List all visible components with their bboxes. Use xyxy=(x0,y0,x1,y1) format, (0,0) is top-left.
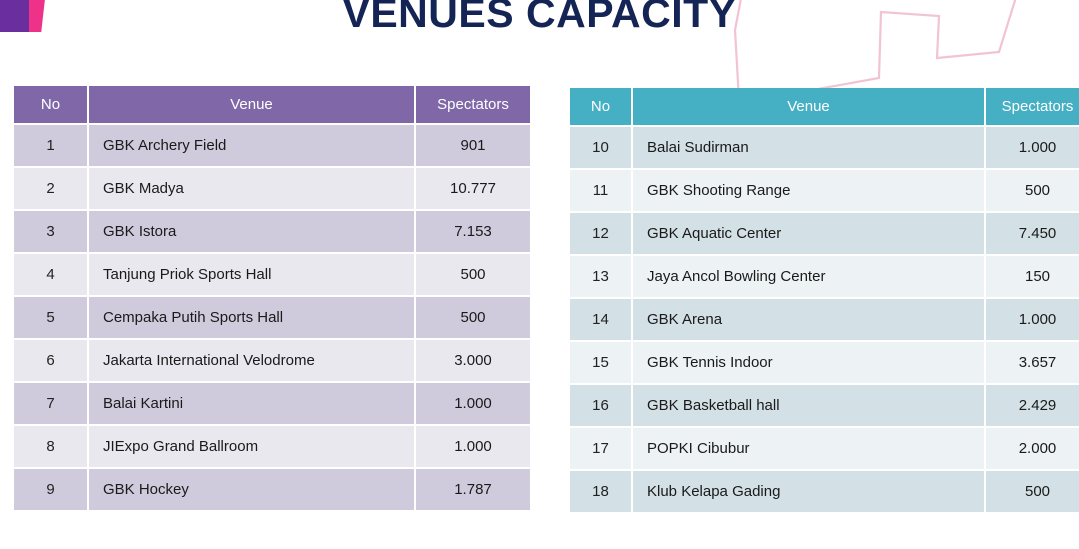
cell-venue: GBK Arena xyxy=(632,298,985,341)
table-row: 3 GBK Istora 7.153 xyxy=(14,210,531,253)
cell-venue: Balai Kartini xyxy=(88,382,415,425)
cell-spectators: 901 xyxy=(415,124,531,167)
cell-no: 10 xyxy=(570,126,632,169)
cell-venue: Jakarta International Velodrome xyxy=(88,339,415,382)
cell-no: 16 xyxy=(570,384,632,427)
cell-venue: Klub Kelapa Gading xyxy=(632,470,985,513)
table-header-row: No Venue Spectators xyxy=(570,88,1079,126)
cell-spectators: 1.000 xyxy=(415,382,531,425)
cell-no: 8 xyxy=(14,425,88,468)
cell-spectators: 3.657 xyxy=(985,341,1079,384)
table-row: 5 Cempaka Putih Sports Hall 500 xyxy=(14,296,531,339)
cell-no: 15 xyxy=(570,341,632,384)
cell-no: 11 xyxy=(570,169,632,212)
cell-no: 17 xyxy=(570,427,632,470)
table-row: 14 GBK Arena 1.000 xyxy=(570,298,1079,341)
cell-spectators: 1.787 xyxy=(415,468,531,511)
venues-table-right: No Venue Spectators 10 Balai Sudirman 1.… xyxy=(570,88,1079,514)
table-row: 8 JIExpo Grand Ballroom 1.000 xyxy=(14,425,531,468)
cell-spectators: 7.153 xyxy=(415,210,531,253)
cell-spectators: 150 xyxy=(985,255,1079,298)
cell-spectators: 1.000 xyxy=(985,298,1079,341)
page-title: VENUES CAPACITY xyxy=(0,0,1079,37)
cell-spectators: 7.450 xyxy=(985,212,1079,255)
table-row: 7 Balai Kartini 1.000 xyxy=(14,382,531,425)
table-row: 18 Klub Kelapa Gading 500 xyxy=(570,470,1079,513)
table-row: 1 GBK Archery Field 901 xyxy=(14,124,531,167)
cell-spectators: 2.000 xyxy=(985,427,1079,470)
cell-no: 2 xyxy=(14,167,88,210)
cell-no: 3 xyxy=(14,210,88,253)
cell-venue: GBK Hockey xyxy=(88,468,415,511)
column-header-venue: Venue xyxy=(632,88,985,126)
cell-spectators: 1.000 xyxy=(415,425,531,468)
table-header-row: No Venue Spectators xyxy=(14,86,531,124)
table-row: 15 GBK Tennis Indoor 3.657 xyxy=(570,341,1079,384)
cell-venue: GBK Shooting Range xyxy=(632,169,985,212)
column-header-spectators: Spectators xyxy=(415,86,531,124)
cell-spectators: 500 xyxy=(985,169,1079,212)
cell-no: 14 xyxy=(570,298,632,341)
cell-venue: GBK Istora xyxy=(88,210,415,253)
cell-venue: JIExpo Grand Ballroom xyxy=(88,425,415,468)
table-row: 11 GBK Shooting Range 500 xyxy=(570,169,1079,212)
column-header-spectators: Spectators xyxy=(985,88,1079,126)
cell-venue: GBK Aquatic Center xyxy=(632,212,985,255)
cell-venue: GBK Archery Field xyxy=(88,124,415,167)
cell-no: 4 xyxy=(14,253,88,296)
column-header-no: No xyxy=(14,86,88,124)
table-row: 9 GBK Hockey 1.787 xyxy=(14,468,531,511)
cell-no: 12 xyxy=(570,212,632,255)
table-row: 16 GBK Basketball hall 2.429 xyxy=(570,384,1079,427)
table-row: 4 Tanjung Priok Sports Hall 500 xyxy=(14,253,531,296)
column-header-no: No xyxy=(570,88,632,126)
table-row: 10 Balai Sudirman 1.000 xyxy=(570,126,1079,169)
cell-venue: Tanjung Priok Sports Hall xyxy=(88,253,415,296)
cell-no: 6 xyxy=(14,339,88,382)
cell-venue: GBK Tennis Indoor xyxy=(632,341,985,384)
cell-spectators: 3.000 xyxy=(415,339,531,382)
venues-table-left: No Venue Spectators 1 GBK Archery Field … xyxy=(14,86,532,512)
table-row: 12 GBK Aquatic Center 7.450 xyxy=(570,212,1079,255)
cell-venue: Balai Sudirman xyxy=(632,126,985,169)
table-row: 13 Jaya Ancol Bowling Center 150 xyxy=(570,255,1079,298)
cell-spectators: 500 xyxy=(415,253,531,296)
cell-venue: GBK Madya xyxy=(88,167,415,210)
table-row: 6 Jakarta International Velodrome 3.000 xyxy=(14,339,531,382)
cell-spectators: 500 xyxy=(415,296,531,339)
cell-no: 7 xyxy=(14,382,88,425)
cell-no: 1 xyxy=(14,124,88,167)
cell-spectators: 10.777 xyxy=(415,167,531,210)
cell-no: 13 xyxy=(570,255,632,298)
cell-spectators: 500 xyxy=(985,470,1079,513)
cell-no: 18 xyxy=(570,470,632,513)
cell-spectators: 2.429 xyxy=(985,384,1079,427)
cell-no: 5 xyxy=(14,296,88,339)
cell-venue: Jaya Ancol Bowling Center xyxy=(632,255,985,298)
cell-spectators: 1.000 xyxy=(985,126,1079,169)
cell-venue: POPKI Cibubur xyxy=(632,427,985,470)
cell-venue: GBK Basketball hall xyxy=(632,384,985,427)
cell-venue: Cempaka Putih Sports Hall xyxy=(88,296,415,339)
column-header-venue: Venue xyxy=(88,86,415,124)
table-row: 2 GBK Madya 10.777 xyxy=(14,167,531,210)
cell-no: 9 xyxy=(14,468,88,511)
table-row: 17 POPKI Cibubur 2.000 xyxy=(570,427,1079,470)
